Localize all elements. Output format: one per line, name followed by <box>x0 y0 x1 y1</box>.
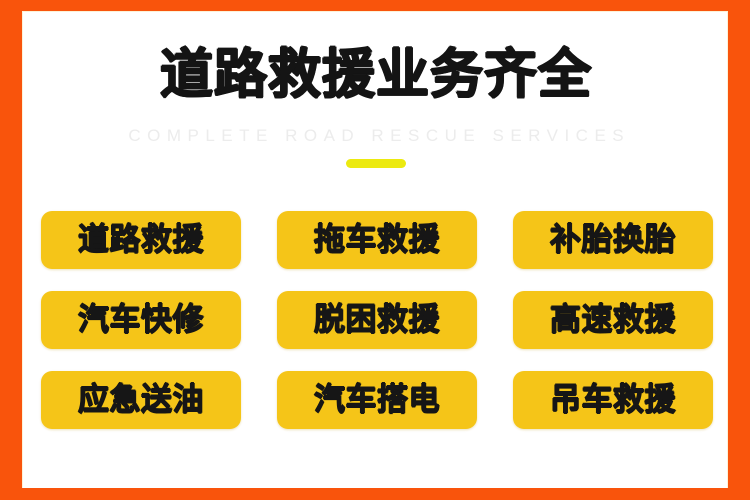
service-button-crane-rescue[interactable]: 吊车救援 <box>513 371 713 429</box>
service-button-jump-start[interactable]: 汽车搭电 <box>277 371 477 429</box>
service-button-tow-rescue[interactable]: 拖车救援 <box>277 211 477 269</box>
promo-poster: 道路救援业务齐全 COMPLETE ROAD RESCUE SERVICES 道… <box>0 0 750 500</box>
service-button-label: 吊车救援 <box>550 385 676 416</box>
page-title: 道路救援业务齐全 <box>23 48 729 101</box>
service-button-extrication-rescue[interactable]: 脱困救援 <box>277 291 477 349</box>
service-button-highway-rescue[interactable]: 高速救援 <box>513 291 713 349</box>
service-button-label: 高速救援 <box>550 305 676 336</box>
service-button-label: 拖车救援 <box>314 225 440 256</box>
service-button-label: 汽车快修 <box>78 305 204 336</box>
page-subtitle: COMPLETE ROAD RESCUE SERVICES <box>23 127 729 144</box>
service-button-quick-car-repair[interactable]: 汽车快修 <box>41 291 241 349</box>
service-button-label: 道路救援 <box>78 225 204 256</box>
service-button-label: 汽车搭电 <box>314 385 440 416</box>
service-button-label: 脱困救援 <box>314 305 440 336</box>
service-button-tire-repair-replace[interactable]: 补胎换胎 <box>513 211 713 269</box>
service-button-emergency-fuel[interactable]: 应急送油 <box>41 371 241 429</box>
service-button-label: 补胎换胎 <box>550 225 676 256</box>
accent-divider-bar <box>346 159 406 168</box>
service-button-label: 应急送油 <box>78 385 204 416</box>
service-button-road-rescue[interactable]: 道路救援 <box>41 211 241 269</box>
service-button-grid: 道路救援 拖车救援 补胎换胎 汽车快修 脱困救援 高速救援 应急送油 汽车搭电 <box>41 211 713 429</box>
poster-inner-panel: 道路救援业务齐全 COMPLETE ROAD RESCUE SERVICES 道… <box>22 11 728 488</box>
